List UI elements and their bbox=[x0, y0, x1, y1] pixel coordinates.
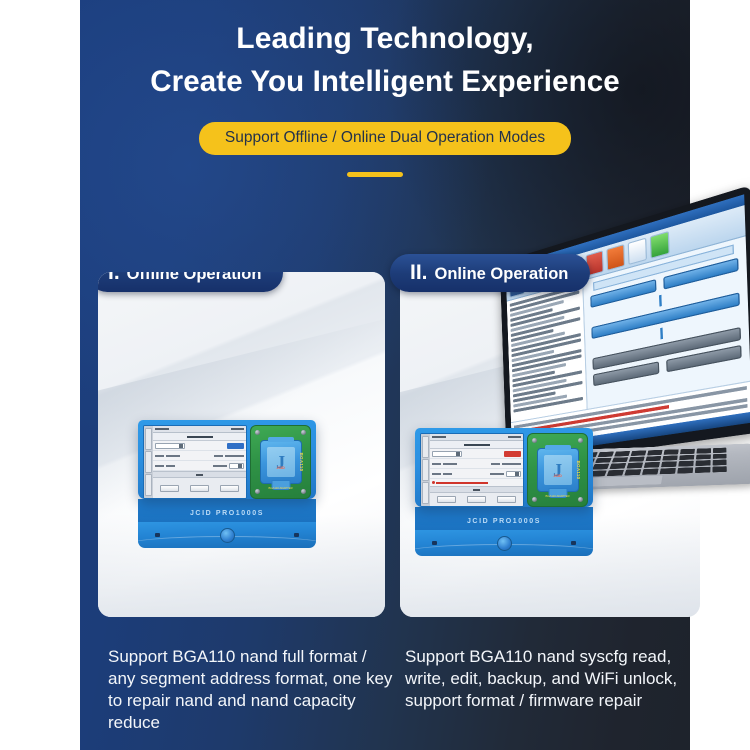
screen-capacity-dropdown bbox=[229, 463, 244, 469]
adapter-brand-text: JCID bbox=[276, 466, 284, 470]
screen-section-strip bbox=[430, 486, 523, 493]
device-base bbox=[138, 522, 316, 548]
bga-adapter-board: J BGA110 JCID BGA110 ADAPTER bbox=[250, 425, 311, 499]
section-label: Offline Operation bbox=[127, 272, 262, 283]
screen-format-button bbox=[190, 485, 209, 492]
flow-arrow-icon bbox=[660, 295, 663, 307]
device-brand-label: JCID PRO1000S bbox=[467, 518, 541, 525]
screen-model-dropdown bbox=[155, 443, 185, 449]
screw-icon bbox=[532, 438, 537, 443]
section-label: Online Operation bbox=[435, 266, 569, 283]
section-number: II. bbox=[410, 262, 428, 283]
screen-row-info-2 bbox=[430, 469, 523, 479]
flow-arrow-icon bbox=[661, 327, 664, 339]
toolbar-icon bbox=[650, 230, 670, 258]
adapter-column: J BGA110 JCID BGA110 ADAPTER bbox=[250, 425, 311, 499]
screen-format-button bbox=[467, 496, 486, 503]
screw-icon bbox=[578, 497, 583, 502]
screen-button-bar bbox=[430, 493, 523, 506]
screen-row-model bbox=[153, 441, 246, 451]
adapter-sub-text: BGA110 ADAPTER bbox=[545, 494, 569, 498]
subtitle-badge-wrap: Support Offline / Online Dual Operation … bbox=[80, 122, 690, 155]
section-badge-offline: I. Offline Operation bbox=[98, 272, 283, 292]
toolbar-icon bbox=[628, 237, 647, 265]
headline-line-2: Create You Intelligent Experience bbox=[80, 61, 690, 103]
power-button[interactable] bbox=[220, 528, 235, 543]
screen-row-info-1 bbox=[430, 459, 523, 469]
screw-icon bbox=[255, 430, 260, 435]
screen-side-tabs bbox=[144, 426, 153, 498]
port-icon bbox=[432, 541, 437, 545]
device-screen-column bbox=[143, 425, 247, 499]
screen-reduce-button bbox=[497, 496, 516, 503]
headline-line-1: Leading Technology, bbox=[80, 18, 690, 61]
screen-statusbar bbox=[153, 426, 246, 433]
port-icon bbox=[155, 533, 160, 537]
port-icon bbox=[294, 533, 299, 537]
screen-section-strip bbox=[153, 471, 246, 478]
device-base bbox=[415, 530, 593, 556]
section-badge-online: II. Online Operation bbox=[390, 254, 590, 292]
screen-reduce-button bbox=[220, 485, 239, 492]
toolbar-icon bbox=[606, 243, 625, 270]
bga-adapter-board: J BGA110 JCID BGA110 ADAPTER bbox=[527, 433, 588, 507]
screen-capacity-dropdown bbox=[506, 471, 521, 477]
screen-repair-button bbox=[160, 485, 179, 492]
adapter-footprint-text: JCID BGA110 ADAPTER bbox=[545, 463, 569, 503]
screw-icon bbox=[301, 489, 306, 494]
page-title: Leading Technology, Create You Intellige… bbox=[80, 18, 690, 102]
screw-icon bbox=[578, 438, 583, 443]
section-number: I. bbox=[108, 272, 120, 283]
device-brand-label: JCID PRO1000S bbox=[190, 510, 264, 517]
screen-row-info-1 bbox=[153, 451, 246, 461]
screen-row-info-2 bbox=[153, 461, 246, 471]
panel-offline: J BGA110 JCID BGA110 ADAPTER JCID PRO100… bbox=[98, 272, 385, 617]
adapter-brand-text: JCID bbox=[553, 474, 561, 478]
adapter-footprint-text: JCID BGA110 ADAPTER bbox=[268, 455, 292, 495]
online-photo-card: J BGA110 JCID BGA110 ADAPTER JCID PRO100… bbox=[400, 272, 700, 617]
accent-divider bbox=[347, 172, 403, 177]
warning-icon bbox=[432, 481, 435, 484]
offline-photo-card: J BGA110 JCID BGA110 ADAPTER JCID PRO100… bbox=[98, 272, 385, 617]
adapter-sub-text: BGA110 ADAPTER bbox=[268, 486, 292, 490]
screen-warning-row bbox=[430, 479, 523, 486]
panel-online: J BGA110 JCID BGA110 ADAPTER JCID PRO100… bbox=[400, 272, 700, 617]
device-body: J BGA110 JCID BGA110 ADAPTER bbox=[415, 428, 593, 507]
screen-main bbox=[430, 434, 523, 506]
device-lcd-screen bbox=[420, 433, 524, 507]
adapter-column: J BGA110 JCID BGA110 ADAPTER bbox=[527, 433, 588, 507]
screw-icon bbox=[532, 497, 537, 502]
screen-side-tabs bbox=[421, 434, 430, 506]
screen-model-dropdown bbox=[432, 451, 462, 457]
device-brand-strip: JCID PRO1000S bbox=[138, 499, 316, 522]
port-icon bbox=[571, 541, 576, 545]
product-infographic: Leading Technology, Create You Intellige… bbox=[0, 0, 750, 750]
device-body: J BGA110 JCID BGA110 ADAPTER bbox=[138, 420, 316, 499]
screen-row-model bbox=[430, 449, 523, 459]
caption-offline: Support BGA110 nand full format / any se… bbox=[108, 646, 398, 734]
screen-repair-button bbox=[437, 496, 456, 503]
screen-statusbar bbox=[430, 434, 523, 441]
screen-heading bbox=[153, 433, 246, 441]
jcid-device-online: J BGA110 JCID BGA110 ADAPTER JCID PRO100… bbox=[415, 428, 593, 556]
power-button[interactable] bbox=[497, 536, 512, 551]
subtitle-badge: Support Offline / Online Dual Operation … bbox=[199, 122, 571, 155]
screen-main bbox=[153, 426, 246, 498]
screen-button-bar bbox=[153, 478, 246, 498]
software-log-panel bbox=[507, 281, 588, 422]
screen-heading bbox=[430, 441, 523, 449]
device-brand-strip: JCID PRO1000S bbox=[415, 507, 593, 530]
device-screen-column bbox=[420, 433, 524, 507]
screw-icon bbox=[255, 489, 260, 494]
jcid-device-offline: J BGA110 JCID BGA110 ADAPTER JCID PRO100… bbox=[138, 420, 316, 548]
caption-online: Support BGA110 nand syscfg read, write, … bbox=[405, 646, 705, 712]
screen-action-tag bbox=[227, 443, 244, 449]
adapter-name-label: BGA110 bbox=[576, 461, 581, 480]
screen-action-tag bbox=[504, 451, 521, 457]
device-lcd-screen bbox=[143, 425, 247, 499]
adapter-name-label: BGA110 bbox=[299, 453, 304, 472]
screw-icon bbox=[301, 430, 306, 435]
